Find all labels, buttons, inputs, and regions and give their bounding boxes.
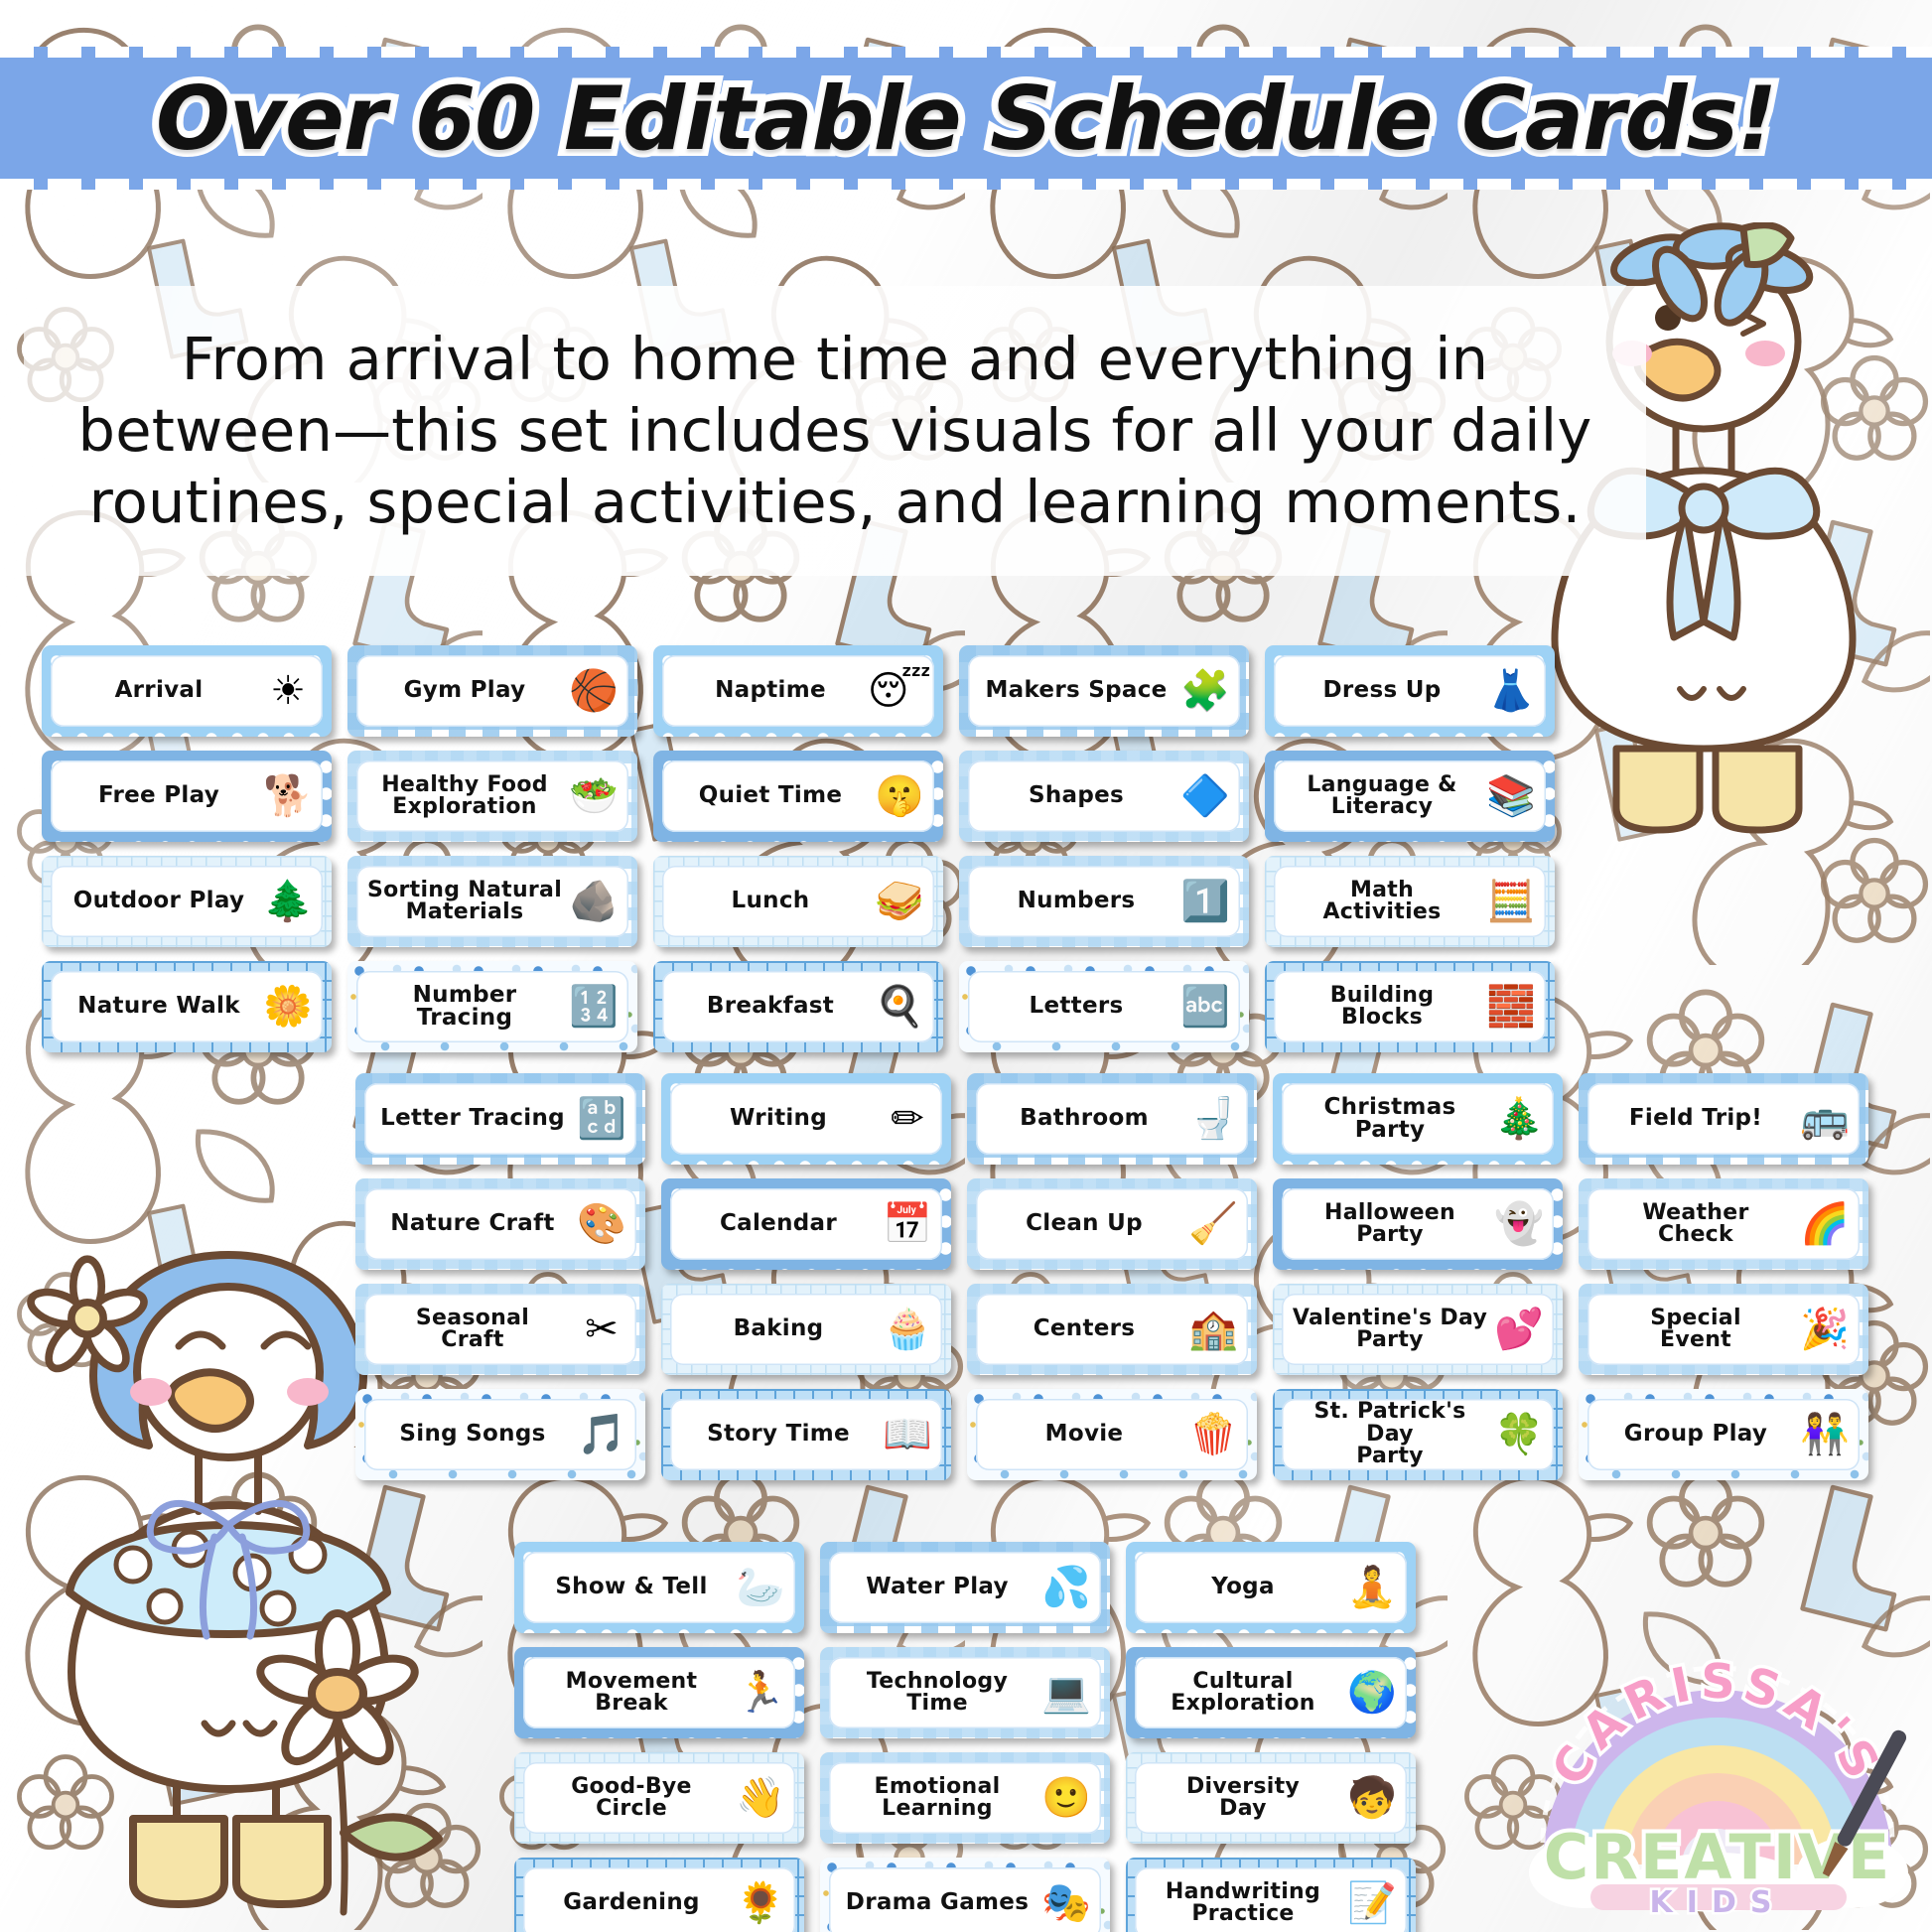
- schedule-card[interactable]: Water Play💦: [820, 1542, 1110, 1633]
- card-label: Calendar: [670, 1212, 879, 1235]
- tracing-abc-icon: 🔡: [573, 1084, 630, 1154]
- schedule-card[interactable]: Bathroom🚽: [967, 1073, 1257, 1165]
- card-inner: St. Patrick's Day Party🍀: [1282, 1399, 1554, 1470]
- schedule-card[interactable]: Sorting Natural Materials🪨: [347, 856, 637, 947]
- schedule-card[interactable]: Seasonal Craft✂: [355, 1284, 645, 1375]
- card-label: Arrival: [51, 679, 259, 702]
- card-inner: Lunch🥪: [662, 866, 934, 937]
- singing-icon: 🎵: [573, 1400, 630, 1469]
- card-label: Seasonal Craft: [364, 1308, 573, 1352]
- sleeping-icon: 😴: [871, 656, 928, 726]
- card-inner: Outdoor Play🌲: [51, 866, 323, 937]
- clover-icon: 🍀: [1490, 1400, 1548, 1469]
- cupcake-icon: 🧁: [879, 1295, 936, 1364]
- yoga-icon: 🧘: [1343, 1553, 1401, 1622]
- feelings-icon: 🙂: [1037, 1763, 1095, 1833]
- card-inner: Number Tracing🔢: [356, 971, 628, 1042]
- card-label: Sing Songs: [364, 1423, 573, 1446]
- card-inner: Letter Tracing🔡: [364, 1083, 636, 1155]
- card-inner: Nature Walk🌼: [51, 971, 323, 1042]
- gardening-goose-icon: 🌻: [732, 1868, 789, 1932]
- card-inner: Quiet Time🤫: [662, 760, 934, 832]
- craft-girl-icon: ✂: [573, 1295, 630, 1364]
- popcorn-icon: 🍿: [1184, 1400, 1242, 1469]
- schedule-card[interactable]: Math Activities🧮: [1265, 856, 1555, 947]
- card-inner: Bathroom🚽: [976, 1083, 1248, 1155]
- card-inner: Yoga🧘: [1135, 1552, 1407, 1623]
- card-label: Baking: [670, 1317, 879, 1340]
- calendar-icon: 📅: [879, 1189, 936, 1259]
- calculator-icon: 🧮: [1482, 867, 1540, 936]
- card-inner: Gym Play🏀: [356, 655, 628, 727]
- basketball-icon: 🏀: [565, 656, 622, 726]
- card-label: Drama Games: [829, 1891, 1037, 1914]
- card-inner: Christmas Party🎄: [1282, 1083, 1554, 1155]
- card-label: Nature Walk: [51, 995, 259, 1018]
- schedule-card[interactable]: Yoga🧘: [1126, 1542, 1416, 1633]
- balloon-dog-icon: 🐕: [259, 761, 317, 831]
- description-text: From arrival to home time and everything…: [24, 324, 1646, 538]
- card-label: Numbers: [968, 890, 1176, 912]
- card-label: Building Blocks: [1274, 985, 1482, 1030]
- card-label: Breakfast: [662, 995, 871, 1018]
- schedule-card[interactable]: Good-Bye Circle👋: [514, 1752, 804, 1844]
- card-inner: Cultural Exploration🌍: [1135, 1657, 1407, 1728]
- card-inner: Nature Craft🎨: [364, 1188, 636, 1260]
- card-label: Number Tracing: [356, 984, 565, 1031]
- water-splash-icon: 💦: [1037, 1553, 1095, 1622]
- craft-boy-icon: 🎨: [573, 1189, 630, 1259]
- schedule-card[interactable]: Clean Up🧹: [967, 1178, 1257, 1270]
- schedule-card[interactable]: Baking🧁: [661, 1284, 951, 1375]
- card-inner: Baking🧁: [670, 1294, 942, 1365]
- schedule-card[interactable]: Calendar📅: [661, 1178, 951, 1270]
- laptop-icon: 💻: [1037, 1658, 1095, 1727]
- page-title: Over 60 Editable Schedule Cards!: [156, 68, 1776, 170]
- tree-icon: 🌲: [259, 867, 317, 936]
- card-label: Dress Up: [1274, 679, 1482, 702]
- card-inner: Water Play💦: [829, 1552, 1101, 1623]
- brand-logo: CARISSA'S CREATIVE KIDS: [1519, 1598, 1916, 1926]
- title-banner: Over 60 Editable Schedule Cards!: [0, 47, 1932, 190]
- schedule-card[interactable]: Lunch🥪: [653, 856, 943, 947]
- card-label: Story Time: [670, 1423, 879, 1446]
- writing-kid-icon: 📝: [1343, 1868, 1401, 1932]
- schedule-card[interactable]: Language & Literacy📚: [1265, 751, 1555, 842]
- schedule-card[interactable]: St. Patrick's Day Party🍀: [1273, 1389, 1563, 1480]
- hearts-icon: 💕: [1490, 1295, 1548, 1364]
- schedule-card[interactable]: Valentine's Day Party💕: [1273, 1284, 1563, 1375]
- card-label: Letter Tracing: [364, 1107, 573, 1130]
- schedule-card[interactable]: Group Play👫: [1579, 1389, 1868, 1480]
- schedule-card-group-2: Letter Tracing🔡Writing✏Bathroom🚽Christma…: [355, 1073, 1868, 1480]
- card-label: Math Activities: [1274, 880, 1482, 924]
- schedule-card[interactable]: Diversity Day🧒: [1126, 1752, 1416, 1844]
- card-label: Movie: [976, 1423, 1184, 1446]
- schedule-card[interactable]: Sing Songs🎵: [355, 1389, 645, 1480]
- schedule-card[interactable]: Building Blocks🧱: [1265, 961, 1555, 1052]
- card-inner: Weather Check🌈: [1587, 1188, 1860, 1260]
- card-inner: Calendar📅: [670, 1188, 942, 1260]
- card-inner: Handwriting Practice📝: [1135, 1867, 1407, 1932]
- card-label: Emotional Learning: [829, 1776, 1037, 1821]
- schedule-card[interactable]: Arrival☀: [42, 645, 332, 737]
- christmas-tree-icon: 🎄: [1490, 1084, 1548, 1154]
- description-panel: From arrival to home time and everything…: [24, 286, 1646, 576]
- card-inner: Numbers1️⃣: [968, 866, 1240, 937]
- numbers-123-icon: 1️⃣: [1176, 867, 1234, 936]
- schedule-card[interactable]: Drama Games🎭: [820, 1858, 1110, 1932]
- schedule-card[interactable]: Free Play🐕: [42, 751, 332, 842]
- card-label: Lunch: [662, 890, 871, 912]
- flower-icon: 🌼: [259, 972, 317, 1041]
- globe-kids-icon: 🌍: [1343, 1658, 1401, 1727]
- card-label: Free Play: [51, 784, 259, 807]
- card-label: Diversity Day: [1135, 1776, 1343, 1821]
- children-icon: 🎉: [1796, 1295, 1854, 1364]
- running-kids-icon: 🏃: [732, 1658, 789, 1727]
- card-label: Cultural Exploration: [1135, 1671, 1343, 1716]
- schedule-card[interactable]: Numbers1️⃣: [959, 856, 1249, 947]
- card-inner: Good-Bye Circle👋: [523, 1762, 795, 1834]
- card-label: Weather Check: [1587, 1202, 1796, 1247]
- kids-crafts-icon: 🧩: [1176, 656, 1234, 726]
- schedule-card[interactable]: Story Time📖: [661, 1389, 951, 1480]
- circle-kids-icon: 👋: [732, 1763, 789, 1833]
- schedule-card-group-3: Show & Tell🦢Water Play💦Yoga🧘Movement Bre…: [514, 1542, 1416, 1932]
- schedule-card[interactable]: Shapes🔷: [959, 751, 1249, 842]
- card-inner: Halloween Party👻: [1282, 1188, 1554, 1260]
- card-label: Language & Literacy: [1274, 774, 1482, 819]
- card-inner: Sing Songs🎵: [364, 1399, 636, 1470]
- story-goose-icon: 📖: [879, 1400, 936, 1469]
- schedule-card[interactable]: Number Tracing🔢: [347, 961, 637, 1052]
- card-inner: Seasonal Craft✂: [364, 1294, 636, 1365]
- card-label: Shapes: [968, 784, 1176, 807]
- card-inner: Diversity Day🧒: [1135, 1762, 1407, 1834]
- card-inner: Naptime😴: [662, 655, 934, 727]
- weather-icon: 🌈: [1796, 1189, 1854, 1259]
- card-label: Naptime: [662, 679, 871, 702]
- card-inner: Dress Up👗: [1274, 655, 1546, 727]
- card-inner: Drama Games🎭: [829, 1867, 1101, 1932]
- blocks-icon: 🧱: [1482, 972, 1540, 1041]
- schedule-card[interactable]: Special Event🎉: [1579, 1284, 1868, 1375]
- sun-icon: ☀: [259, 656, 317, 726]
- schedule-card[interactable]: Movie🍿: [967, 1389, 1257, 1480]
- card-label: Field Trip!: [1587, 1107, 1796, 1130]
- toilet-icon: 🚽: [1184, 1084, 1242, 1154]
- food-icon: 🥗: [565, 761, 622, 831]
- card-inner: Group Play👫: [1587, 1399, 1860, 1470]
- schedule-card[interactable]: Weather Check🌈: [1579, 1178, 1868, 1270]
- schedule-card[interactable]: Quiet Time🤫: [653, 751, 943, 842]
- card-inner: Movie🍿: [976, 1399, 1248, 1470]
- schedule-card[interactable]: Field Trip!🚌: [1579, 1073, 1868, 1165]
- card-label: Letters: [968, 995, 1176, 1018]
- card-label: Centers: [976, 1317, 1184, 1340]
- schedule-card[interactable]: Emotional Learning🙂: [820, 1752, 1110, 1844]
- card-label: Show & Tell: [523, 1576, 732, 1598]
- card-label: Special Event: [1587, 1308, 1796, 1352]
- schedule-card[interactable]: Letter Tracing🔡: [355, 1073, 645, 1165]
- card-inner: Makers Space🧩: [968, 655, 1240, 727]
- schedule-card[interactable]: Gardening🌻: [514, 1858, 804, 1932]
- rocks-icon: 🪨: [565, 867, 622, 936]
- card-label: Makers Space: [968, 679, 1176, 702]
- kids-group-icon: 🚌: [1796, 1084, 1854, 1154]
- card-label: Gardening: [523, 1891, 732, 1914]
- card-inner: Shapes🔷: [968, 760, 1240, 832]
- card-label: Writing: [670, 1107, 879, 1130]
- cleanup-icon: 🧹: [1184, 1189, 1242, 1259]
- schedule-card[interactable]: Handwriting Practice📝: [1126, 1858, 1416, 1932]
- card-inner: Language & Literacy📚: [1274, 760, 1546, 832]
- schedule-card[interactable]: Christmas Party🎄: [1273, 1073, 1563, 1165]
- card-inner: Arrival☀: [51, 655, 323, 727]
- card-label: Yoga: [1135, 1576, 1343, 1598]
- card-label: Valentine's Day Party: [1282, 1308, 1490, 1352]
- card-label: St. Patrick's Day Party: [1282, 1401, 1490, 1467]
- card-label: Gym Play: [356, 679, 565, 702]
- card-label: Sorting Natural Materials: [356, 880, 565, 924]
- lunch-icon: 🥪: [871, 867, 928, 936]
- costume-icon: 👗: [1482, 656, 1540, 726]
- group-play-icon: 👫: [1796, 1400, 1854, 1469]
- theatre-masks-icon: 🎭: [1037, 1868, 1095, 1932]
- card-inner: Math Activities🧮: [1274, 866, 1546, 937]
- schedule-card[interactable]: Nature Craft🎨: [355, 1178, 645, 1270]
- schedule-card[interactable]: Halloween Party👻: [1273, 1178, 1563, 1270]
- ghost-icon: 👻: [1490, 1189, 1548, 1259]
- card-label: Clean Up: [976, 1212, 1184, 1235]
- card-inner: Centers🏫: [976, 1294, 1248, 1365]
- diverse-kids-icon: 🧒: [1343, 1763, 1401, 1833]
- card-inner: Technology Time💻: [829, 1657, 1101, 1728]
- card-inner: Clean Up🧹: [976, 1188, 1248, 1260]
- card-label: Technology Time: [829, 1671, 1037, 1716]
- card-label: Healthy Food Exploration: [356, 774, 565, 819]
- schedule-card[interactable]: Letters🔤: [959, 961, 1249, 1052]
- schedule-card[interactable]: Technology Time💻: [820, 1647, 1110, 1738]
- card-label: Christmas Party: [1282, 1096, 1490, 1143]
- card-label: Handwriting Practice: [1135, 1881, 1343, 1926]
- card-label: Group Play: [1587, 1423, 1796, 1446]
- schedule-card[interactable]: Outdoor Play🌲: [42, 856, 332, 947]
- card-inner: Field Trip!🚌: [1587, 1083, 1860, 1155]
- card-label: Bathroom: [976, 1107, 1184, 1130]
- card-inner: Emotional Learning🙂: [829, 1762, 1101, 1834]
- books-icon: 📚: [1482, 761, 1540, 831]
- schedule-card[interactable]: Gym Play🏀: [347, 645, 637, 737]
- card-inner: Story Time📖: [670, 1399, 942, 1470]
- card-label: Outdoor Play: [51, 890, 259, 912]
- schedule-card[interactable]: Naptime😴: [653, 645, 943, 737]
- card-label: Nature Craft: [364, 1212, 573, 1235]
- schedule-card[interactable]: Writing✏: [661, 1073, 951, 1165]
- card-inner: Valentine's Day Party💕: [1282, 1294, 1554, 1365]
- pencil-icon: ✏: [879, 1084, 936, 1154]
- schedule-card[interactable]: Dress Up👗: [1265, 645, 1555, 737]
- card-inner: Letters🔤: [968, 971, 1240, 1042]
- schedule-card[interactable]: Breakfast🍳: [653, 961, 943, 1052]
- card-inner: Sorting Natural Materials🪨: [356, 866, 628, 937]
- card-label: Halloween Party: [1282, 1202, 1490, 1247]
- shapes-icon: 🔷: [1176, 761, 1234, 831]
- card-inner: Special Event🎉: [1587, 1294, 1860, 1365]
- classroom-icon: 🏫: [1184, 1295, 1242, 1364]
- goose-strawberry-icon: 🦢: [732, 1553, 789, 1622]
- schedule-card[interactable]: Movement Break🏃: [514, 1647, 804, 1738]
- card-label: Quiet Time: [662, 784, 871, 807]
- card-inner: Show & Tell🦢: [523, 1552, 795, 1623]
- card-inner: Writing✏: [670, 1083, 942, 1155]
- card-label: Water Play: [829, 1576, 1037, 1598]
- schedule-card[interactable]: Show & Tell🦢: [514, 1542, 804, 1633]
- schedule-card[interactable]: Healthy Food Exploration🥗: [347, 751, 637, 842]
- schedule-card-group-1: Arrival☀Gym Play🏀Naptime😴Makers Space🧩Dr…: [42, 645, 1555, 1052]
- card-inner: Movement Break🏃: [523, 1657, 795, 1728]
- schedule-card[interactable]: Centers🏫: [967, 1284, 1257, 1375]
- logo-line-3: KIDS: [1650, 1885, 1786, 1920]
- child-icon: 🤫: [871, 761, 928, 831]
- schedule-card[interactable]: Cultural Exploration🌍: [1126, 1647, 1416, 1738]
- schedule-card[interactable]: Nature Walk🌼: [42, 961, 332, 1052]
- card-inner: Building Blocks🧱: [1274, 971, 1546, 1042]
- card-label: Good-Bye Circle: [523, 1776, 732, 1821]
- schedule-card[interactable]: Makers Space🧩: [959, 645, 1249, 737]
- breakfast-icon: 🍳: [871, 972, 928, 1041]
- card-inner: Free Play🐕: [51, 760, 323, 832]
- card-inner: Gardening🌻: [523, 1867, 795, 1932]
- tracing-123-icon: 🔢: [565, 972, 622, 1041]
- card-inner: Healthy Food Exploration🥗: [356, 760, 628, 832]
- card-inner: Breakfast🍳: [662, 971, 934, 1042]
- card-label: Movement Break: [523, 1671, 732, 1716]
- abc-icon: 🔤: [1176, 972, 1234, 1041]
